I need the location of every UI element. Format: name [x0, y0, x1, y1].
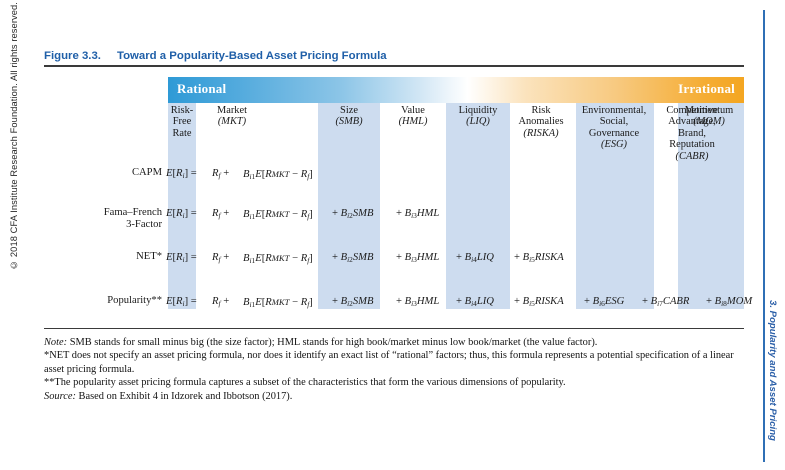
note-lead: Note:	[44, 337, 67, 348]
figure-title: Figure 3.3.Toward a Popularity-Based Ass…	[44, 50, 744, 65]
term-risk-free-rate: Rf +	[212, 167, 229, 183]
page-edge-rule	[763, 10, 765, 462]
source-body: Based on Exhibit 4 in Idzorek and Ibbots…	[76, 391, 292, 402]
term-riska: + Bi5RISKA	[514, 295, 564, 311]
formula-rows: CAPM E[Ri] = Rf + Bi1E[RMKT − Rf] Fama–F…	[44, 103, 744, 309]
row-label-popularity: Popularity**	[44, 295, 162, 307]
term-risk-free-rate: Rf +	[212, 207, 229, 223]
figure-number: Figure 3.3.	[44, 50, 101, 62]
term-mom: + Bi8MOM	[706, 295, 752, 311]
term-smb: + Bi2SMB	[332, 207, 373, 223]
term-smb: + Bi2SMB	[332, 251, 373, 267]
notes-divider	[44, 328, 744, 329]
term-expected-return: E[Ri] =	[166, 167, 197, 183]
term-market: Bi1E[RMKT − Rf]	[243, 251, 313, 268]
row-label-capm: CAPM	[44, 167, 162, 179]
term-esg: + Bi6ESG	[584, 295, 624, 311]
term-hml: + Bi3HML	[396, 251, 439, 267]
row-label-net: NET*	[44, 251, 162, 263]
term-expected-return: E[Ri] =	[166, 295, 197, 311]
row-label-fama-french: Fama–French 3-Factor	[44, 207, 162, 231]
term-smb: + Bi2SMB	[332, 295, 373, 311]
source-line: Source: Based on Exhibit 4 in Idzorek an…	[44, 390, 746, 403]
figure-title-text: Toward a Popularity-Based Asset Pricing …	[117, 50, 387, 62]
term-risk-free-rate: Rf +	[212, 295, 229, 311]
footnote-popularity: **The popularity asset pricing formula c…	[44, 376, 746, 389]
source-lead: Source:	[44, 391, 76, 402]
title-divider	[44, 65, 744, 67]
term-expected-return: E[Ri] =	[166, 207, 197, 223]
figure-container: Figure 3.3.Toward a Popularity-Based Ass…	[44, 50, 744, 309]
formula-row-net: NET* E[Ri] = Rf + Bi1E[RMKT − Rf] + Bi2S…	[44, 251, 744, 266]
footnote-net: *NET does not specify an asset pricing f…	[44, 349, 746, 376]
spectrum-label-rational: Rational	[177, 81, 226, 97]
term-expected-return: E[Ri] =	[166, 251, 197, 267]
rational-irrational-spectrum: Rational Irrational	[168, 77, 744, 103]
copyright-text: © 2018 CFA Institute Research Foundation…	[10, 2, 19, 270]
formula-row-popularity: Popularity** E[Ri] = Rf + Bi1E[RMKT − Rf…	[44, 295, 744, 310]
term-market: Bi1E[RMKT − Rf]	[243, 207, 313, 224]
figure-notes: Note: SMB stands for small minus big (th…	[44, 336, 746, 403]
note-body: SMB stands for small minus big (the size…	[67, 337, 597, 348]
running-head-text: 3. Popularity and Asset Pricing	[767, 300, 777, 441]
formula-table: Rational Irrational Risk-Free Rate Marke…	[44, 77, 744, 309]
formula-row-fama-french: Fama–French 3-Factor E[Ri] = Rf + Bi1E[R…	[44, 207, 744, 222]
copyright-strip: © 2018 CFA Institute Research Foundation…	[2, 0, 28, 330]
term-market: Bi1E[RMKT − Rf]	[243, 295, 313, 312]
term-market: Bi1E[RMKT − Rf]	[243, 167, 313, 184]
term-liq: + Bi4LIQ	[456, 295, 494, 311]
formula-row-capm: CAPM E[Ri] = Rf + Bi1E[RMKT − Rf]	[44, 167, 744, 182]
term-riska: + Bi5RISKA	[514, 251, 564, 267]
term-hml: + Bi3HML	[396, 207, 439, 223]
term-cabr: + Bi7CABR	[642, 295, 689, 311]
note-line: Note: SMB stands for small minus big (th…	[44, 336, 746, 349]
term-hml: + Bi3HML	[396, 295, 439, 311]
term-risk-free-rate: Rf +	[212, 251, 229, 267]
spectrum-label-irrational: Irrational	[678, 81, 735, 97]
term-liq: + Bi4LIQ	[456, 251, 494, 267]
